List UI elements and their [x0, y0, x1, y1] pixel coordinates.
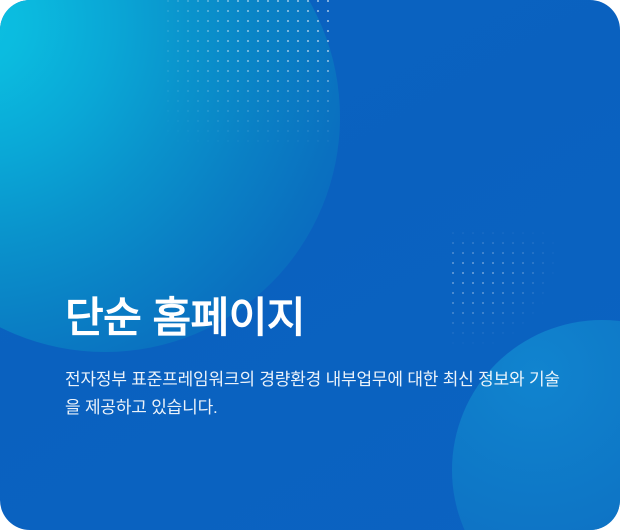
hero-text-block: 단순 홈페이지 전자정부 표준프레임워크의 경량환경 내부업무에 대한 최신 정… — [65, 292, 575, 422]
hero-banner: 단순 홈페이지 전자정부 표준프레임워크의 경량환경 내부업무에 대한 최신 정… — [0, 0, 620, 530]
page-subtitle: 전자정부 표준프레임워크의 경량환경 내부업무에 대한 최신 정보와 기술을 제… — [65, 344, 565, 422]
dot-grid-pattern-icon — [163, 0, 331, 151]
page-title: 단순 홈페이지 — [65, 292, 575, 344]
